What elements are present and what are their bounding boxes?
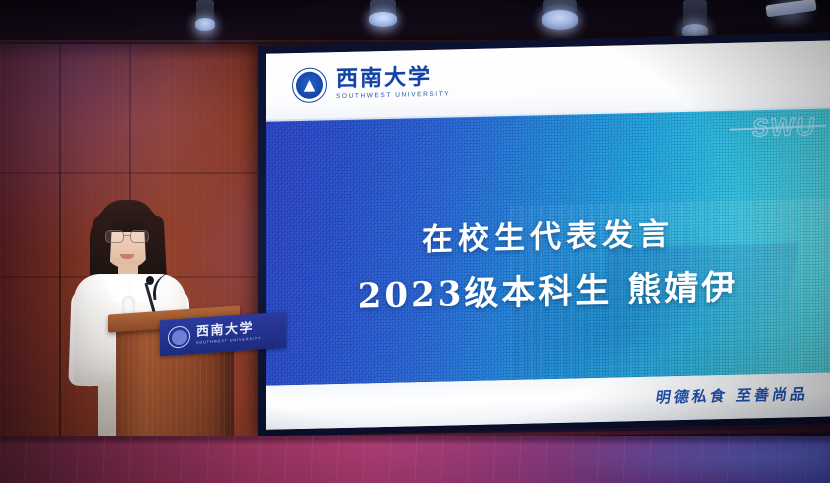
university-name-en: SOUTHWEST UNIVERSITY (336, 92, 450, 101)
microphone-head (146, 276, 154, 285)
glasses-icon (105, 230, 149, 242)
slide-brand-lockup: ▲ 西南大学 SOUTHWEST UNIVERSITY (292, 64, 450, 103)
screen-content: ▲ 西南大学 SOUTHWEST UNIVERSITY SWU 在校生代表发 (266, 41, 830, 430)
auditorium-photo: ▲ 西南大学 SOUTHWEST UNIVERSITY SWU 在校生代表发 (0, 0, 830, 483)
stage-light-5 (762, 0, 822, 26)
slide-footer-motto: 明德私食 至善尚品 (654, 383, 810, 408)
university-name-cn: 西南大学 (336, 66, 450, 91)
swu-seal-icon: ▲ (292, 67, 327, 103)
slide-body: SWU 在校生代表发言 2023级本科生 熊婧伊 (266, 109, 830, 386)
stage-light-2 (365, 0, 401, 30)
slide-brand-names: 西南大学 SOUTHWEST UNIVERSITY (336, 66, 450, 101)
swu-seal-icon (168, 325, 190, 349)
led-display-screen: ▲ 西南大学 SOUTHWEST UNIVERSITY SWU 在校生代表发 (258, 33, 830, 438)
slide-title-block: 在校生代表发言 2023级本科生 熊婧伊 (266, 205, 830, 320)
podium-nameplate-text: 西南大学 SOUTHWEST UNIVERSITY (196, 322, 261, 346)
stage-floor-light-pool (550, 440, 830, 483)
glasses-bridge (123, 235, 131, 236)
stage-light-1 (192, 0, 218, 34)
stage-light-3 (537, 0, 583, 36)
